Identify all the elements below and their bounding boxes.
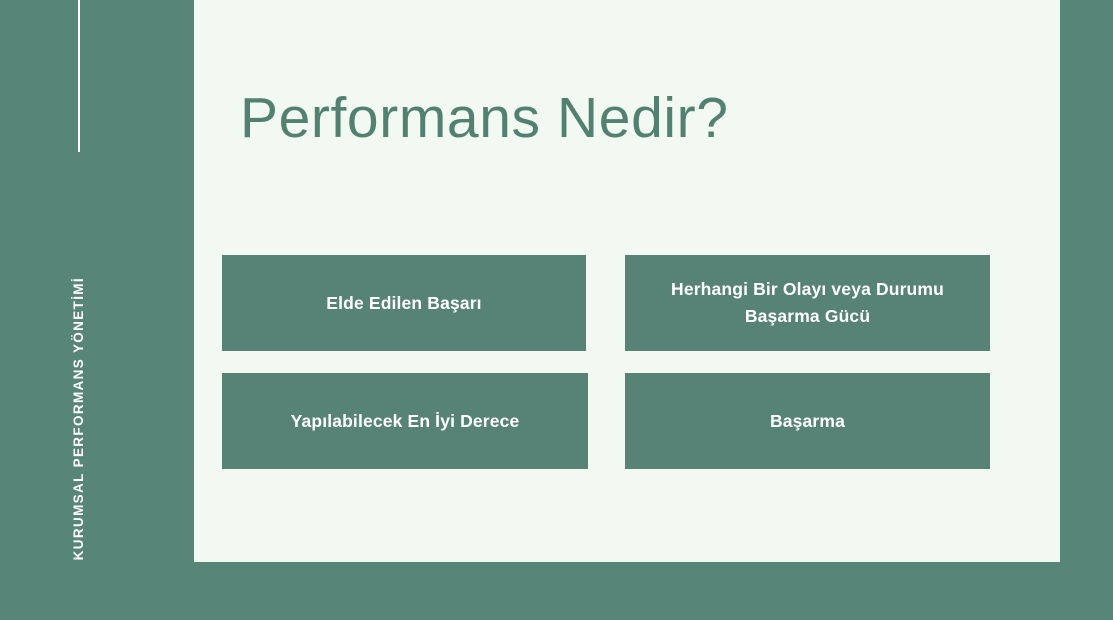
concept-box-bottom-left[interactable]: Yapılabilecek En İyi Derece — [222, 373, 588, 469]
concept-box-bottom-right[interactable]: Başarma — [625, 373, 990, 469]
presentation-slide: KURUMSAL PERFORMANS YÖNETİMİ Performans … — [0, 0, 1113, 620]
sidebar-vertical-label: KURUMSAL PERFORMANS YÖNETİMİ — [0, 220, 160, 560]
concept-box-top-left-label: Elde Edilen Başarı — [326, 290, 481, 317]
slide-content-panel: Performans Nedir? Elde Edilen Başarı Her… — [194, 0, 1060, 562]
concept-box-top-right[interactable]: Herhangi Bir Olayı veya Durumu Başarma G… — [625, 255, 990, 351]
concept-box-bottom-left-label: Yapılabilecek En İyi Derece — [291, 408, 520, 435]
sidebar-accent-line — [78, 0, 80, 152]
concept-box-bottom-right-label: Başarma — [770, 408, 845, 435]
sidebar-vertical-label-text: KURUMSAL PERFORMANS YÖNETİMİ — [72, 277, 86, 560]
page-title: Performans Nedir? — [240, 86, 729, 152]
slide-sidebar: KURUMSAL PERFORMANS YÖNETİMİ — [0, 0, 194, 620]
concept-box-top-left[interactable]: Elde Edilen Başarı — [222, 255, 586, 351]
concept-box-top-right-label: Herhangi Bir Olayı veya Durumu Başarma G… — [643, 276, 972, 329]
